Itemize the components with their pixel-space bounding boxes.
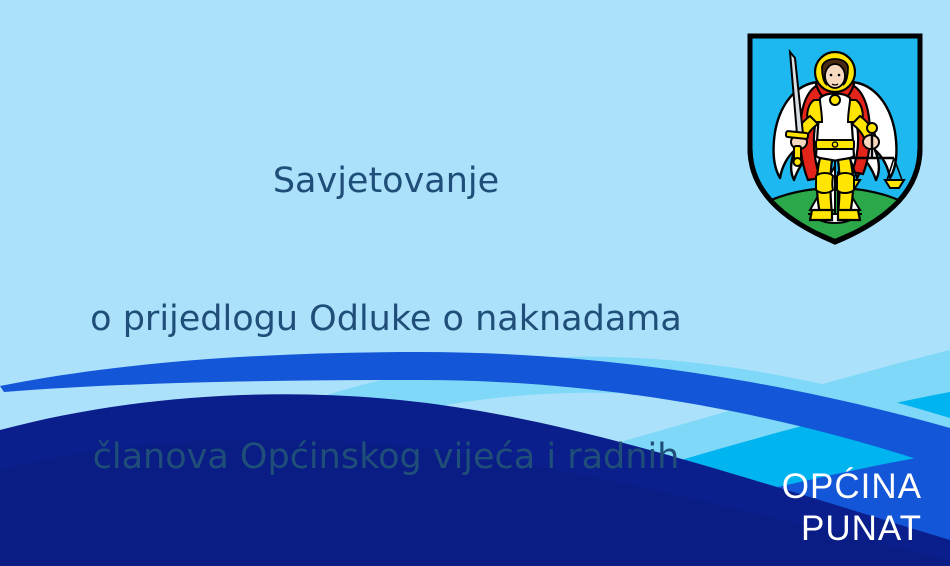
page-title: Savjetovanje o prijedlogu Odluke o nakna… bbox=[0, 66, 772, 566]
knee-right bbox=[837, 173, 854, 193]
wordmark-line-1: OPĆINA bbox=[782, 466, 922, 508]
sword-pommel bbox=[794, 158, 802, 166]
foot-left bbox=[810, 210, 832, 220]
sword-guard bbox=[786, 131, 809, 139]
title-line-2: o prijedlogu Odluke o naknadama bbox=[0, 296, 772, 342]
municipality-wordmark: OPĆINA PUNAT bbox=[782, 466, 922, 550]
foot-right bbox=[838, 210, 860, 220]
coat-of-arms-icon bbox=[742, 28, 928, 250]
title-line-3: članova Općinskog vijeća i radnih bbox=[0, 434, 772, 480]
punat-announcement-banner: Savjetovanje o prijedlogu Odluke o nakna… bbox=[0, 0, 950, 566]
belt-buckle bbox=[832, 142, 837, 147]
eye-right bbox=[838, 74, 841, 77]
scales-ring bbox=[867, 123, 877, 133]
coat-of-arms bbox=[742, 28, 928, 250]
eye-left bbox=[830, 74, 833, 77]
knee-left bbox=[816, 173, 833, 193]
brooch bbox=[830, 95, 840, 105]
title-line-1: Savjetovanje bbox=[0, 158, 772, 204]
wordmark-line-2: PUNAT bbox=[782, 508, 922, 550]
